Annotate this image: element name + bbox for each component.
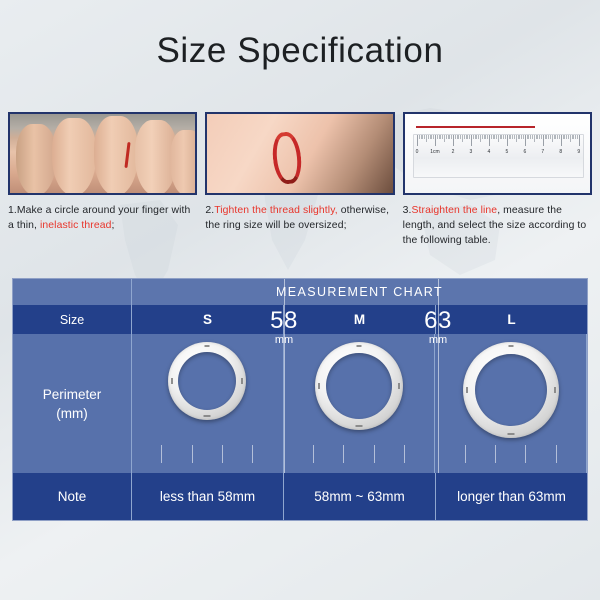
ruler-number-label: 4 [488, 149, 491, 155]
page-title: Size Specification [156, 31, 443, 71]
perimeter-label-line2: (mm) [43, 404, 102, 423]
step-2-number: 2. [205, 205, 214, 216]
scale-ticks-s [132, 445, 283, 463]
ring-s-hole [178, 352, 236, 410]
scale-ticks-l [435, 445, 586, 463]
ring-m-hole [326, 353, 392, 419]
red-thread-loop [271, 131, 304, 186]
ruler-number-label: 3 [470, 149, 473, 155]
size-value-s: S [132, 305, 284, 334]
measurement-chart-table: MEASUREMENT CHART Size S M L Perimeter (… [12, 278, 588, 521]
ring-m-tick-left [318, 383, 320, 389]
page-title-container: Size Specification [0, 0, 600, 102]
ring-m-tick-bottom [356, 425, 363, 427]
hand-photo-graphic [10, 114, 195, 193]
ring-m [315, 342, 403, 430]
ring-l-tick-left [466, 387, 468, 393]
header-empty-cell [13, 279, 132, 305]
ruler-number-label: 1cm [430, 149, 439, 155]
instruction-step-1-caption: 1.Make a circle around your finger with … [8, 203, 197, 233]
note-value-l: longer than 63mm [436, 473, 587, 520]
ring-s-tick-top [205, 345, 210, 347]
ring-l-hole [475, 354, 547, 426]
red-measured-line [416, 126, 535, 128]
instruction-step-3-caption: 3.Straighten the line, measure the lengt… [403, 203, 592, 248]
hand-with-red-thread-photo [8, 112, 197, 195]
ring-illustration-l [435, 334, 586, 473]
step-3-text-highlight: Straighten the line [412, 205, 498, 216]
ring-cell-s [132, 334, 284, 473]
ruler-number-label: 5 [505, 149, 508, 155]
measurement-chart-title: MEASUREMENT CHART [132, 279, 587, 305]
ruler-number-label: 7 [541, 149, 544, 155]
finger-closeup-red-thread-photo [205, 112, 394, 195]
step-1-text-after: ; [112, 220, 115, 231]
table-row-note: Note less than 58mm 58mm ~ 63mm longer t… [13, 473, 587, 520]
ring-l-tick-top [508, 345, 513, 347]
table-row-size: Size S M L [13, 305, 587, 334]
instruction-step-2: 2.Tighten the thread slightly, otherwise… [205, 112, 394, 248]
ruler: 01cm23456789 [413, 134, 584, 178]
ring-l-tick-bottom [507, 433, 514, 435]
ring-l-tick-right [554, 387, 556, 393]
ring-s-tick-left [171, 378, 173, 384]
ruler-with-red-line-photo: 01cm23456789 [403, 112, 592, 195]
ring-m-tick-right [398, 383, 400, 389]
ruler-number-label: 8 [559, 149, 562, 155]
size-value-l: L [436, 305, 587, 334]
ruler-number-label: 9 [577, 149, 580, 155]
ring-l [463, 342, 559, 438]
perimeter-label-line1: Perimeter [43, 385, 102, 404]
ruler-graphic: 01cm23456789 [405, 114, 590, 193]
note-value-s: less than 58mm [132, 473, 284, 520]
instruction-steps: 1.Make a circle around your finger with … [0, 112, 600, 248]
ring-s [168, 342, 246, 420]
note-row-label: Note [13, 473, 132, 520]
step-1-text-highlight: inelastic thread [40, 220, 112, 231]
ring-cell-l [435, 334, 587, 473]
size-value-m: M [284, 305, 436, 334]
instruction-step-1: 1.Make a circle around your finger with … [8, 112, 197, 248]
ruler-number-label: 2 [452, 149, 455, 155]
instruction-step-3: 01cm23456789 3.Straighten the line, meas… [403, 112, 592, 248]
ring-s-tick-right [241, 378, 243, 384]
ruler-tick-marks [414, 135, 583, 148]
step-1-number: 1. [8, 205, 17, 216]
ring-s-tick-bottom [204, 415, 211, 417]
scale-ticks-m [284, 445, 435, 463]
instruction-step-2-caption: 2.Tighten the thread slightly, otherwise… [205, 203, 394, 233]
ring-cell-m [284, 334, 436, 473]
finger-closeup-graphic [207, 114, 392, 193]
ring-m-tick-top [357, 345, 362, 347]
perimeter-row-label: Perimeter (mm) [13, 334, 132, 473]
note-value-m: 58mm ~ 63mm [284, 473, 436, 520]
ruler-number-label: 6 [523, 149, 526, 155]
table-header-row: MEASUREMENT CHART [13, 279, 587, 305]
step-2-text-highlight: Tighten the thread slightly, [214, 205, 338, 216]
size-row-label: Size [13, 305, 132, 334]
ring-illustration-m [284, 334, 435, 473]
ring-illustration-s [132, 334, 283, 473]
step-3-number: 3. [403, 205, 412, 216]
table-row-perimeter: Perimeter (mm) [13, 334, 587, 473]
ruler-number-label: 0 [416, 149, 419, 155]
ruler-major-tick [579, 135, 580, 146]
